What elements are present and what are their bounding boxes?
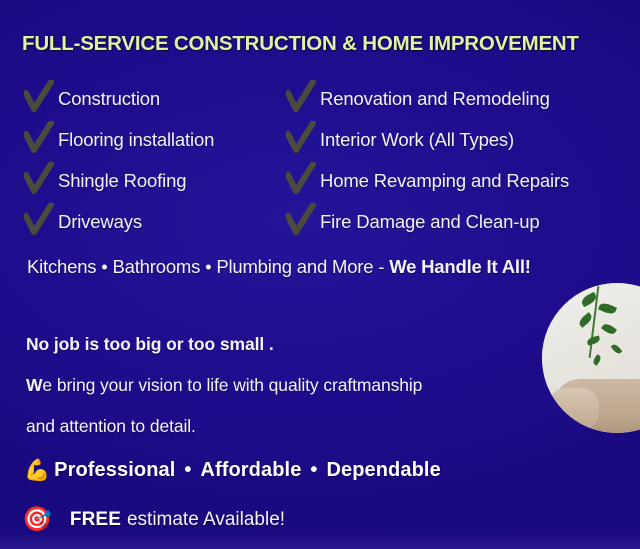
service-label: Renovation and Remodeling	[320, 88, 550, 110]
list-item: Home Revamping and Repairs	[286, 160, 640, 201]
checkmark-icon	[286, 162, 316, 196]
value-prop-affordable: Affordable	[200, 459, 301, 482]
list-item: Fire Damage and Clean-up	[286, 201, 640, 242]
service-label: Driveways	[58, 211, 142, 233]
value-prop-professional: Professional	[54, 459, 175, 482]
services-tagline: Kitchens • Bathrooms • Plumbing and More…	[27, 256, 531, 278]
pitch-line-3: and attention to detail.	[26, 406, 422, 447]
service-label: Construction	[58, 88, 160, 110]
list-item: Renovation and Remodeling	[286, 78, 640, 119]
free-estimate-row: 🎯 FREE estimate Available!	[22, 508, 285, 532]
pitch-paragraph: No job is too big or too small . We brin…	[26, 324, 422, 447]
service-label: Shingle Roofing	[58, 170, 186, 192]
photo-sofa-arm	[548, 388, 599, 430]
service-label: Flooring installation	[58, 129, 214, 151]
tagline-regular-text: Kitchens • Bathrooms • Plumbing and More…	[27, 256, 389, 277]
list-item: Construction	[24, 78, 286, 119]
flexed-biceps-icon: 💪	[24, 460, 50, 481]
service-label: Home Revamping and Repairs	[320, 170, 569, 192]
checkmark-icon	[286, 203, 316, 237]
page-title: FULL-SERVICE CONSTRUCTION & HOME IMPROVE…	[22, 32, 579, 56]
service-label: Fire Damage and Clean-up	[320, 211, 540, 233]
value-prop-separator: •	[175, 459, 200, 482]
checkmark-icon	[24, 203, 54, 237]
checkmark-icon	[24, 121, 54, 155]
tagline-emphasis-text: We Handle It All!	[389, 256, 531, 277]
pitch-drop-cap: W	[26, 375, 42, 395]
advertisement-banner: FULL-SERVICE CONSTRUCTION & HOME IMPROVE…	[0, 0, 640, 549]
services-list: Construction Flooring installation Shing…	[0, 78, 640, 242]
pitch-line-2-text: e bring your vision to life with quality…	[42, 375, 422, 395]
checkmark-icon	[286, 80, 316, 114]
free-label: FREE	[70, 509, 121, 531]
service-label: Interior Work (All Types)	[320, 129, 514, 151]
checkmark-icon	[286, 121, 316, 155]
list-item: Shingle Roofing	[24, 160, 286, 201]
list-item: Flooring installation	[24, 119, 286, 160]
pitch-line-2: We bring your vision to life with qualit…	[26, 365, 422, 406]
checkmark-icon	[24, 80, 54, 114]
services-column-right: Renovation and Remodeling Interior Work …	[286, 78, 640, 242]
interior-photo-circle	[542, 283, 640, 433]
checkmark-icon	[24, 162, 54, 196]
value-prop-dependable: Dependable	[326, 459, 440, 482]
services-column-left: Construction Flooring installation Shing…	[0, 78, 286, 242]
list-item: Interior Work (All Types)	[286, 119, 640, 160]
value-prop-separator: •	[301, 459, 326, 482]
value-props-row: 💪 Professional • Affordable • Dependable	[24, 459, 441, 482]
estimate-available-label: estimate Available!	[127, 509, 285, 531]
pitch-line-1: No job is too big or too small .	[26, 324, 422, 365]
dart-target-icon: 🎯	[22, 508, 52, 532]
list-item: Driveways	[24, 201, 286, 242]
